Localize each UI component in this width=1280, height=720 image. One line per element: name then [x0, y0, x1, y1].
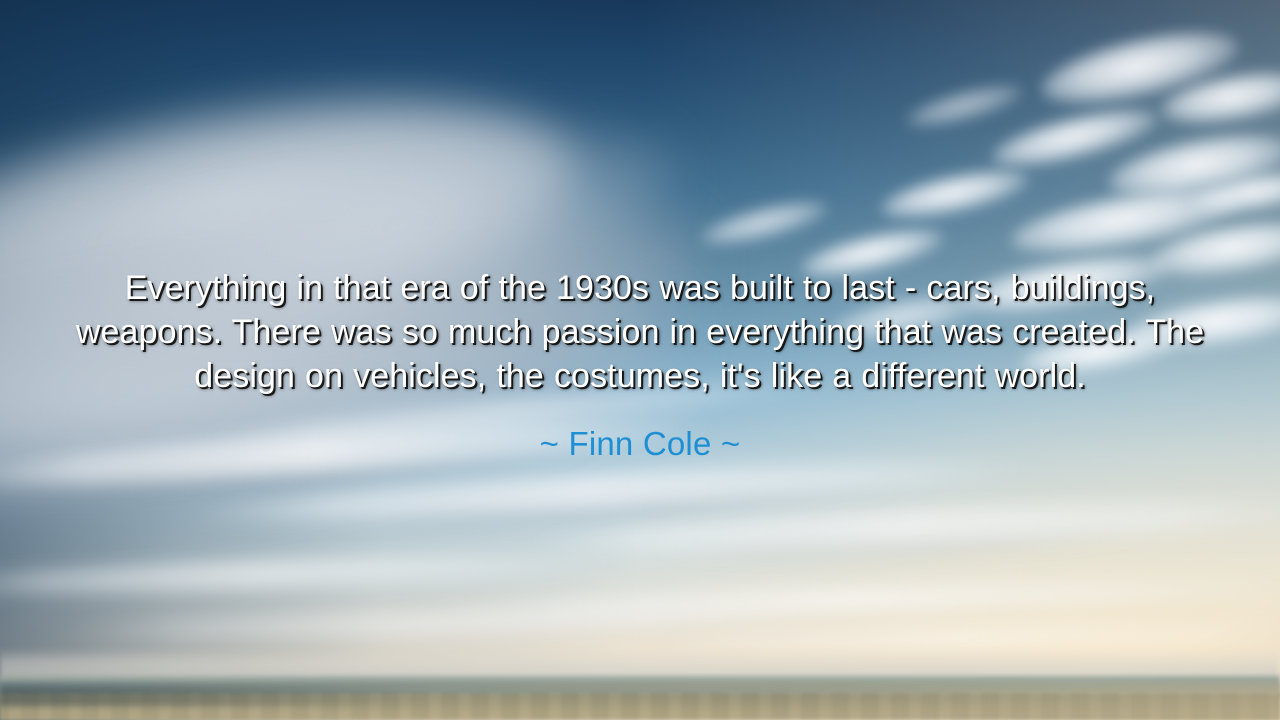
cloud-puff [903, 77, 1026, 135]
quote-card-image: Everything in that era of the 1930s was … [0, 0, 1280, 720]
quote-author: ~ Finn Cole ~ [75, 424, 1205, 464]
cloud-puff [698, 193, 831, 254]
land-shadow-left [0, 686, 430, 706]
quote-text: Everything in that era of the 1930s was … [75, 266, 1205, 398]
quote-block: Everything in that era of the 1930s was … [75, 266, 1205, 464]
land-highlight-right [760, 690, 1280, 720]
cloud-puff [878, 161, 1032, 227]
cloud-streak [0, 548, 620, 600]
